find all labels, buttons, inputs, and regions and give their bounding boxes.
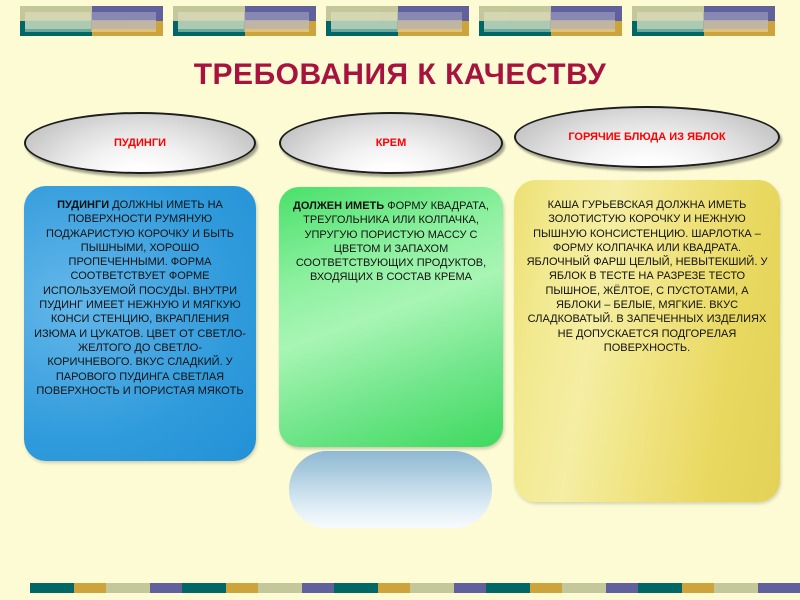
bottom-band-segment bbox=[30, 583, 118, 593]
heading-label-puddings: ПУДИНГИ bbox=[100, 137, 180, 150]
bottom-band-segment bbox=[638, 583, 726, 593]
top-band-block bbox=[173, 6, 316, 36]
bottom-band-segment bbox=[486, 583, 574, 593]
panel-body-cream: ФОРМУ КВАДРАТА, ТРЕУГОЛЬНИКА ИЛИ КОЛПАЧК… bbox=[296, 200, 489, 283]
panel-body-puddings: ДОЛЖНЫ ИМЕТЬ НА ПОВЕРХНОСТИ РУМЯНУЮ ПОДЖ… bbox=[34, 199, 246, 397]
bottom-band-segment bbox=[258, 583, 346, 593]
top-band-inner-upper bbox=[637, 12, 768, 29]
top-band-block bbox=[632, 6, 775, 36]
bottom-band-segment bbox=[182, 583, 270, 593]
top-band-inner-upper bbox=[331, 12, 462, 29]
panel-puddings: ПУДИНГИ ДОЛЖНЫ ИМЕТЬ НА ПОВЕРХНОСТИ РУМЯ… bbox=[24, 186, 256, 461]
heading-label-apple-dishes: ГОРЯЧИЕ БЛЮДА ИЗ ЯБЛОК bbox=[554, 131, 739, 144]
panel-lead-cream: ДОЛЖЕН ИМЕТЬ bbox=[293, 200, 384, 212]
bottom-band-segment bbox=[714, 583, 800, 593]
column-apple-dishes: ГОРЯЧИЕ БЛЮДА ИЗ ЯБЛОК КАША ГУРЬЕВСКАЯ Д… bbox=[514, 106, 780, 502]
bottom-decorative-band bbox=[0, 576, 800, 600]
panel-apple-dishes: КАША ГУРЬЕВСКАЯ ДОЛЖНА ИМЕТЬ ЗОЛОТИСТУЮ … bbox=[514, 180, 780, 502]
top-band-block bbox=[20, 6, 163, 36]
panel-cream-reflection bbox=[289, 451, 492, 528]
bottom-band-segment bbox=[106, 583, 194, 593]
panel-lead-puddings: ПУДИНГИ bbox=[57, 199, 109, 211]
bottom-band-segment bbox=[334, 583, 422, 593]
heading-label-cream: КРЕМ bbox=[362, 137, 421, 150]
column-cream: КРЕМ ДОЛЖЕН ИМЕТЬ ФОРМУ КВАДРАТА, ТРЕУГО… bbox=[279, 112, 503, 528]
column-puddings: ПУДИНГИ ПУДИНГИ ДОЛЖНЫ ИМЕТЬ НА ПОВЕРХНО… bbox=[24, 112, 256, 461]
top-band-inner-upper bbox=[484, 12, 615, 29]
bottom-band-segment bbox=[562, 583, 650, 593]
heading-ellipse-apple-dishes: ГОРЯЧИЕ БЛЮДА ИЗ ЯБЛОК bbox=[514, 106, 780, 168]
bottom-band-segment bbox=[410, 583, 498, 593]
panel-text-puddings: ПУДИНГИ ДОЛЖНЫ ИМЕТЬ НА ПОВЕРХНОСТИ РУМЯ… bbox=[34, 198, 246, 398]
top-band-inner-upper bbox=[178, 12, 309, 29]
page-title: ТРЕБОВАНИЯ К КАЧЕСТВУ bbox=[0, 58, 800, 92]
heading-ellipse-cream: КРЕМ bbox=[279, 112, 503, 174]
top-band-block bbox=[326, 6, 469, 36]
panel-cream: ДОЛЖЕН ИМЕТЬ ФОРМУ КВАДРАТА, ТРЕУГОЛЬНИК… bbox=[279, 187, 503, 447]
top-decorative-band bbox=[0, 0, 800, 46]
panel-text-cream: ДОЛЖЕН ИМЕТЬ ФОРМУ КВАДРАТА, ТРЕУГОЛЬНИК… bbox=[289, 199, 493, 285]
panel-body-apple-dishes: КАША ГУРЬЕВСКАЯ ДОЛЖНА ИМЕТЬ ЗОЛОТИСТУЮ … bbox=[527, 199, 768, 354]
top-band-block bbox=[479, 6, 622, 36]
panel-text-apple-dishes: КАША ГУРЬЕВСКАЯ ДОЛЖНА ИМЕТЬ ЗОЛОТИСТУЮ … bbox=[524, 192, 770, 355]
heading-ellipse-puddings: ПУДИНГИ bbox=[24, 112, 256, 174]
top-band-inner-upper bbox=[25, 12, 156, 29]
